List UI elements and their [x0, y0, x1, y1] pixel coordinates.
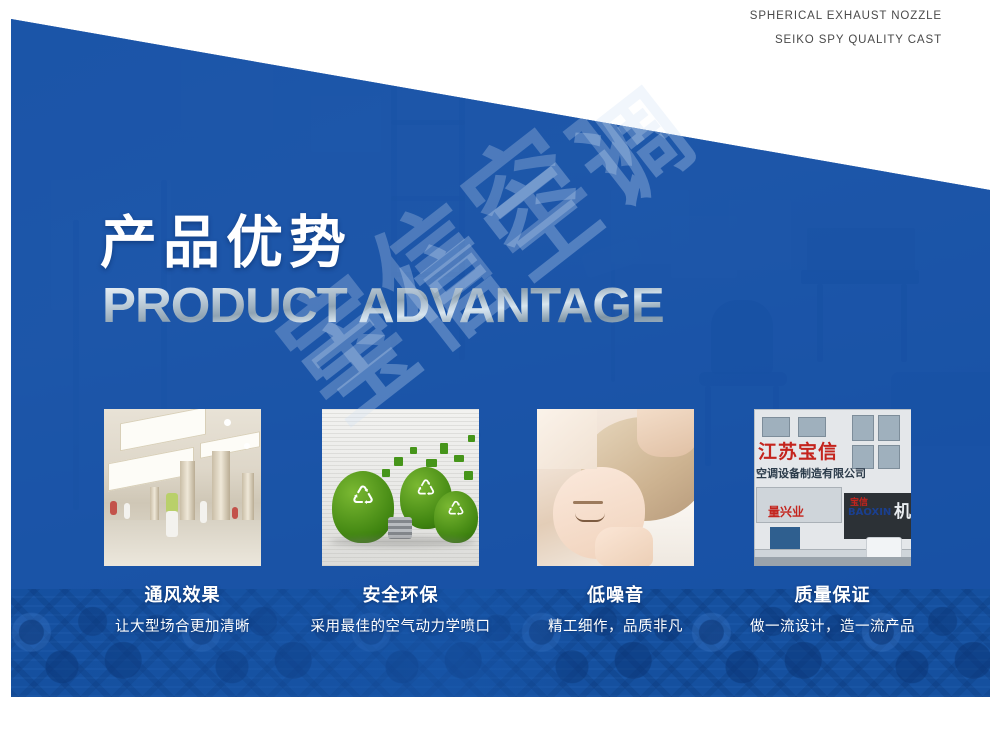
- feature-subtitle: 做一流设计，造一流产品: [722, 615, 943, 636]
- ceiling-light-3: [200, 431, 260, 459]
- window-6: [878, 445, 900, 469]
- parked-van: [866, 537, 902, 559]
- header-line-2: SEIKO SPY QUALITY CAST: [522, 28, 942, 52]
- brand-sign-en: BAOXIN: [848, 507, 891, 518]
- confetti-2: [410, 447, 417, 454]
- mall-illustration: [104, 409, 261, 566]
- page-title-en: PRODUCT ADVANTAGE: [102, 280, 664, 332]
- title-block: 产品优势 PRODUCT ADVANTAGE: [100, 212, 642, 332]
- window-2: [798, 417, 826, 437]
- feature-card[interactable]: 通风效果 让大型场合更加清晰: [104, 409, 261, 636]
- confetti-4: [440, 443, 448, 454]
- ceiling-spot-2: [244, 443, 250, 449]
- feature-thumbnail-mall: [104, 409, 261, 566]
- confetti-5: [454, 455, 464, 462]
- confetti-1: [394, 457, 403, 466]
- feature-card[interactable]: 江苏宝信 空调设备制造有限公司 量兴业 宝信 BAOXIN 机 质量保证 做一流…: [754, 409, 911, 636]
- confetti-3: [426, 459, 437, 467]
- eyebrow: [573, 501, 603, 504]
- confetti-6: [382, 469, 390, 477]
- promo-banner: 宝信空调 SPHERICAL EXHAUST NOZZLE SEIKO SPY …: [0, 0, 1000, 735]
- recycle-icon: ♺: [344, 483, 381, 526]
- feature-card[interactable]: ♺ ♺ ♺ 安全环保 采用最佳的空气动力学喷口: [322, 409, 479, 636]
- bulb-left: ♺: [332, 471, 394, 543]
- feature-subtitle: 让大型场合更加清晰: [82, 615, 283, 636]
- bulb-shadow: [330, 537, 476, 547]
- road: [754, 557, 911, 566]
- confetti-8: [464, 471, 473, 480]
- sheet: [537, 409, 597, 469]
- closed-eye: [575, 513, 605, 522]
- shopper-4: [200, 501, 207, 523]
- brand-sign-tail: 机: [894, 497, 911, 522]
- header-tagline: SPHERICAL EXHAUST NOZZLE SEIKO SPY QUALI…: [522, 0, 942, 52]
- recycle-icon: ♺: [443, 499, 469, 530]
- feature-thumbnail-factory: 江苏宝信 空调设备制造有限公司 量兴业 宝信 BAOXIN 机: [754, 409, 911, 566]
- shopper-5: [232, 507, 238, 519]
- bulb-right: ♺: [434, 491, 478, 543]
- ceiling-light-1: [120, 409, 206, 451]
- feature-card[interactable]: 低噪音 精工细作，品质非凡: [537, 409, 694, 636]
- window-4: [878, 415, 900, 441]
- factory-illustration: 江苏宝信 空调设备制造有限公司 量兴业 宝信 BAOXIN 机: [754, 409, 911, 566]
- feature-heading: 低噪音: [537, 581, 694, 607]
- factory-sign-main: 江苏宝信: [758, 437, 838, 464]
- bulb-base-left: [388, 517, 412, 539]
- mall-floor: [104, 520, 261, 566]
- page-title-cn: 产品优势: [100, 212, 642, 274]
- ceiling-spot-1: [224, 419, 231, 426]
- feature-subtitle: 采用最佳的空气动力学喷口: [290, 615, 511, 636]
- feature-thumbnail-bulbs: ♺ ♺ ♺: [322, 409, 479, 566]
- shopper-main: [166, 493, 178, 513]
- shopper-2: [110, 501, 117, 515]
- window-1: [762, 417, 790, 437]
- feature-heading: 通风效果: [104, 581, 261, 607]
- feature-heading: 质量保证: [754, 581, 911, 607]
- second-person: [637, 409, 694, 457]
- hand: [595, 527, 653, 566]
- factory-sign-sub: 空调设备制造有限公司: [756, 465, 866, 481]
- feature-heading: 安全环保: [322, 581, 479, 607]
- window-3: [852, 415, 874, 441]
- feature-subtitle: 精工细作，品质非凡: [515, 615, 716, 636]
- header-line-1: SPHERICAL EXHAUST NOZZLE: [522, 4, 942, 28]
- feature-thumbnail-sleeping: [537, 409, 694, 566]
- shopper-3: [124, 503, 130, 519]
- sleeping-woman-illustration: [537, 409, 694, 566]
- shopper-main-legs: [166, 511, 178, 537]
- slogan-sign: 量兴业: [768, 503, 804, 520]
- confetti-9: [468, 435, 475, 442]
- lightbulb-illustration: ♺ ♺ ♺: [322, 409, 479, 566]
